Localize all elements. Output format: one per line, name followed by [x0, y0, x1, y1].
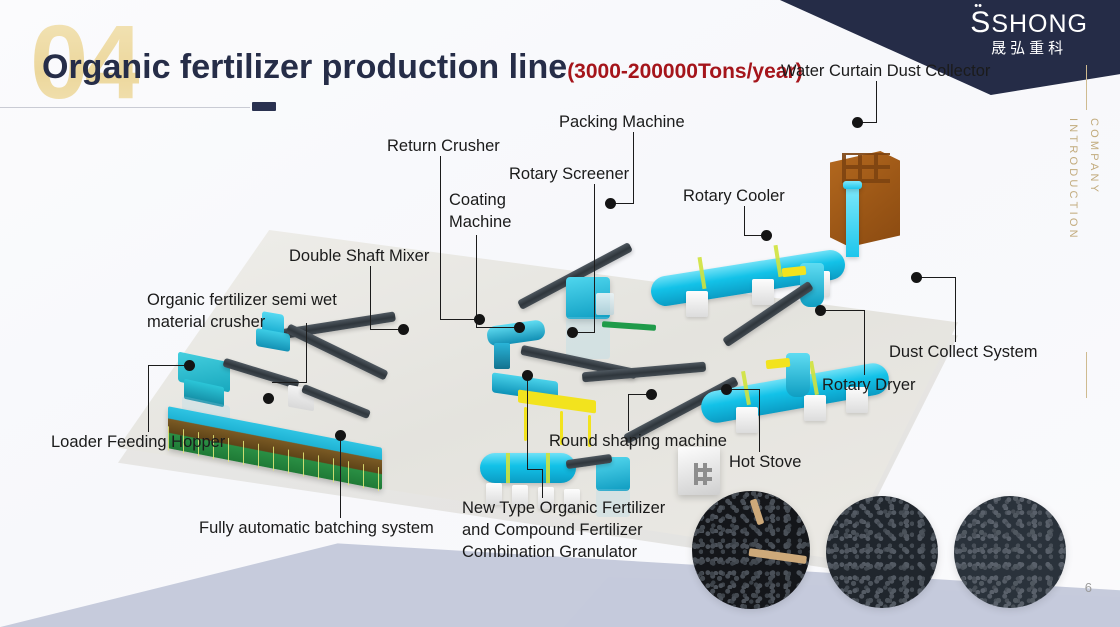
granulator-band-2: [546, 453, 550, 483]
leader-hot-stove-v: [759, 390, 760, 452]
leader-granulator-v: [542, 470, 543, 498]
label-return-crusher: Return Crusher: [387, 136, 500, 158]
label-granulator-line3: Combination Granulator: [462, 543, 637, 561]
leader-rotary-cooler-v: [744, 206, 745, 236]
dot-rotary-cooler: [761, 230, 772, 241]
label-coating-line2: Machine: [449, 213, 511, 231]
logo-dots-icon: ••: [974, 1, 982, 12]
leader-dust-collect-v: [955, 278, 956, 342]
granulator-band-1: [506, 453, 510, 483]
dot-combination-granulator: [522, 370, 533, 381]
label-water-curtain-dust-collector: Water Curtain Dust Collector: [781, 61, 990, 83]
leader-water-curtain-v: [876, 81, 877, 123]
company-logo: S••SHONG 晟弘重科: [970, 8, 1088, 56]
label-round-shaping-machine: Round shaping machine: [549, 431, 727, 453]
furnace-building-top: [842, 153, 890, 183]
vertical-label-introduction: INTRODUCTION: [1062, 118, 1083, 241]
product-photo-1: [692, 491, 810, 609]
label-rotary-cooler: Rotary Cooler: [683, 186, 785, 208]
label-double-shaft-mixer: Double Shaft Mixer: [289, 246, 429, 268]
cooler-support-1: [686, 291, 708, 317]
leader-return-crusher-v: [440, 156, 441, 320]
vertical-rule-bottom: [1086, 352, 1087, 398]
page-title-text: Organic fertilizer production line: [42, 48, 567, 86]
vertical-rule-top: [1086, 65, 1087, 110]
label-packing-machine: Packing Machine: [559, 112, 685, 134]
dot-return-crusher: [474, 314, 485, 325]
leader-dust-collect-h: [920, 277, 956, 278]
label-hot-stove: Hot Stove: [729, 452, 801, 474]
dot-hot-stove: [721, 384, 732, 395]
label-granulator-line2: and Compound Fertilizer: [462, 521, 643, 539]
dot-rotary-screener: [567, 327, 578, 338]
dot-water-curtain: [852, 117, 863, 128]
capacity-subtitle: (3000-200000Tons/year): [567, 60, 802, 83]
dryer-support-2: [804, 395, 826, 421]
vertical-label-company: COMPANY: [1083, 118, 1104, 241]
coating-machine-motor: [494, 343, 510, 369]
granules-texture-3: [954, 496, 1066, 608]
leader-loader-h: [148, 365, 186, 366]
label-semiwet-line1: Organic fertilizer semi wet: [147, 291, 337, 309]
leader-rotary-dryer-h: [824, 310, 865, 311]
label-coating-line1: Coating: [449, 191, 506, 209]
dot-round-shaping-machine: [646, 389, 657, 400]
dot-dust-collect-system: [911, 272, 922, 283]
leader-return-crusher-h: [440, 319, 476, 320]
logo-rest: SHONG: [991, 10, 1088, 38]
product-photo-2: [826, 496, 938, 608]
page-number: 6: [1085, 580, 1092, 595]
water-curtain-stack-cap: [843, 181, 862, 189]
label-semi-wet-crusher: Organic fertilizer semi wet material cru…: [147, 290, 377, 334]
label-coating-machine: Coating Machine: [449, 190, 539, 234]
slide-root: S••SHONG 晟弘重科 04 Organic fertilizer prod…: [0, 0, 1120, 627]
label-rotary-dryer: Rotary Dryer: [822, 375, 916, 397]
label-fully-automatic-batching: Fully automatic batching system: [199, 518, 434, 540]
dot-loader-feeding-hopper: [184, 360, 195, 371]
leader-coating-h: [476, 327, 516, 328]
leader-batching-v: [340, 450, 341, 518]
logo-letter-s: S••: [970, 6, 991, 39]
logo-chinese: 晟弘重科: [970, 41, 1088, 56]
product-photo-3: [954, 496, 1066, 608]
packing-machine-model: [596, 293, 614, 315]
granules-texture-2: [826, 496, 938, 608]
dot-semi-wet-crusher: [263, 393, 274, 404]
dryer-support-1: [736, 407, 758, 433]
leader-granulator-v2: [527, 380, 528, 470]
company-introduction-vertical: COMPANY INTRODUCTION: [1062, 118, 1104, 241]
dot-packing-machine: [605, 198, 616, 209]
label-loader-feeding-hopper: Loader Feeding Hopper: [51, 432, 225, 454]
label-granulator-line1: New Type Organic Fertilizer: [462, 499, 665, 517]
dot-fully-automatic-batching: [335, 430, 346, 441]
label-combination-granulator: New Type Organic Fertilizer and Compound…: [462, 498, 682, 563]
dot-rotary-dryer: [815, 305, 826, 316]
leader-rotary-screener-v: [594, 184, 595, 333]
label-rotary-screener: Rotary Screener: [509, 164, 629, 186]
label-dust-collect-system: Dust Collect System: [889, 342, 1038, 364]
page-title: Organic fertilizer production line(3000-…: [42, 48, 803, 87]
leader-hot-stove-h: [730, 389, 760, 390]
leader-round-shaping-v: [628, 395, 629, 431]
label-semiwet-line2: material crusher: [147, 313, 265, 331]
dot-double-shaft-mixer: [398, 324, 409, 335]
leader-loader-v: [148, 366, 149, 432]
leader-semiwet-h: [272, 382, 307, 383]
leader-granulator-h: [527, 469, 543, 470]
logo-wordmark: S••SHONG: [970, 8, 1088, 38]
hot-stove-vents-icon: [694, 463, 712, 485]
water-curtain-dust-collector-model: [846, 185, 859, 257]
leader-packing-v: [633, 132, 634, 204]
dot-coating-machine: [514, 322, 525, 333]
leader-rotary-dryer-v: [864, 311, 865, 375]
cooler-support-2: [752, 279, 774, 305]
